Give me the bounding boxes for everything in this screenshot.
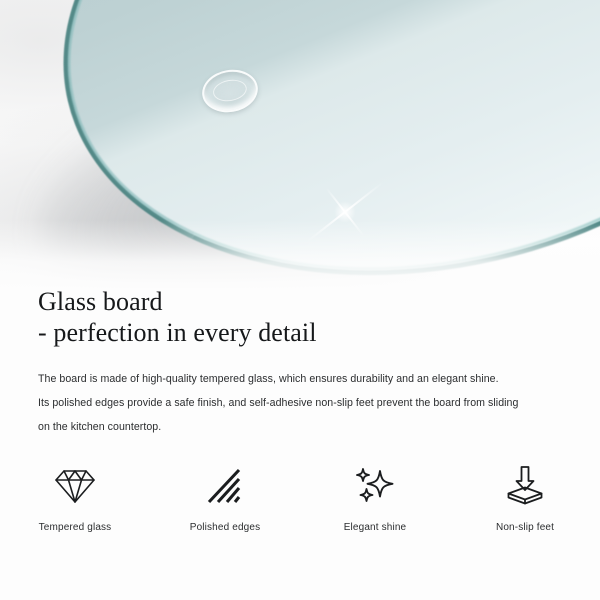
headline-line-2: - perfection in every detail [38,317,568,348]
non-slip-foot-inner-ring [211,77,248,104]
page-title: Glass board - perfection in every detail [38,286,568,348]
hero-product-photo [0,0,600,290]
body-line-1: The board is made of high-quality temper… [38,367,568,391]
photo-bottom-fade [0,220,600,290]
product-infographic: Glass board - perfection in every detail… [0,0,600,600]
feature-tempered-glass: Tempered glass [0,462,150,557]
feature-non-slip-feet: Non-slip feet [450,462,600,557]
feature-elegant-shine: Elegant shine [300,462,450,557]
sparkles-icon [353,462,397,510]
copy-block: Glass board - perfection in every detail… [38,286,568,439]
feature-label: Polished edges [190,522,260,533]
feature-polished-edges: Polished edges [150,462,300,557]
body-line-2: Its polished edges provide a safe finish… [38,391,568,415]
arrow-onto-pad-icon [504,462,546,510]
body-copy: The board is made of high-quality temper… [38,367,568,439]
diamond-icon [53,462,97,510]
body-line-3: on the kitchen countertop. [38,415,568,439]
feature-label: Elegant shine [344,522,407,533]
feature-label: Tempered glass [39,522,112,533]
feature-row: Tempered glass Polished edges [0,462,600,557]
diagonal-stripes-icon [205,462,245,510]
feature-label: Non-slip feet [496,522,554,533]
headline-line-1: Glass board [38,286,568,317]
